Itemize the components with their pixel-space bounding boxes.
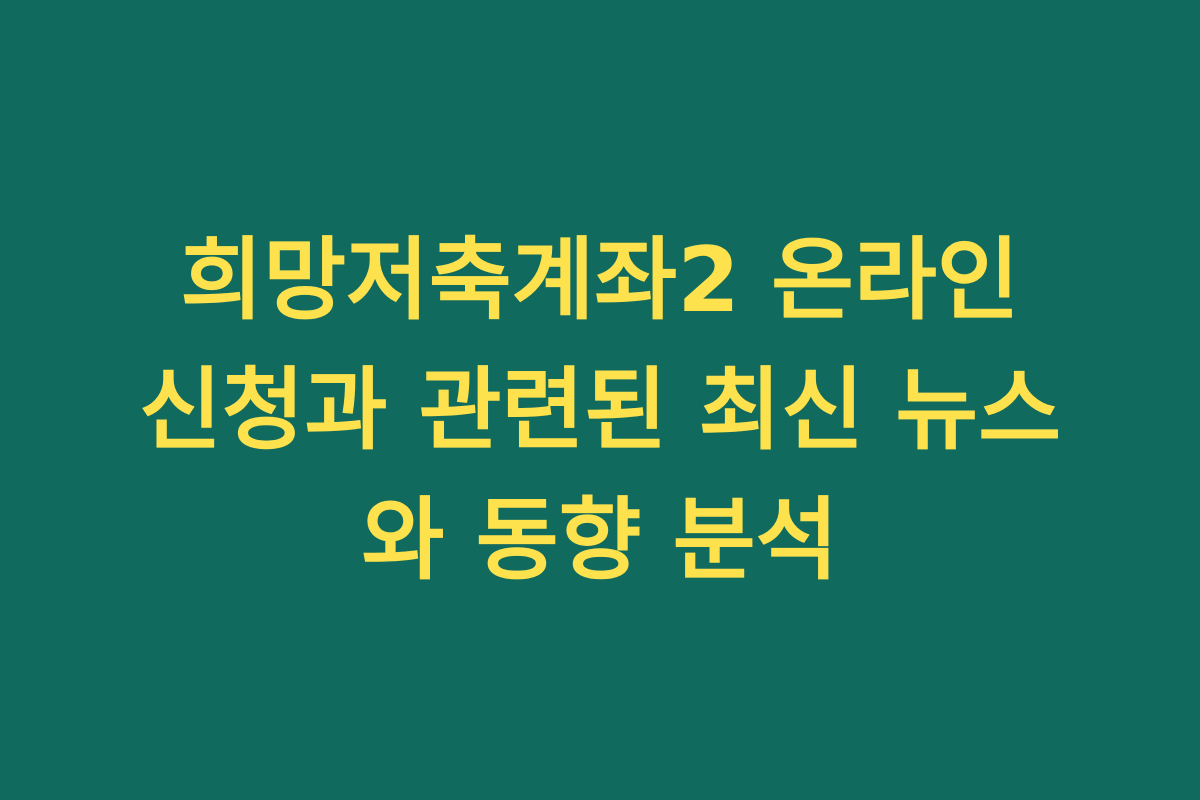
headline-line-2: 신청과 관련된 최신 뉴스 <box>139 346 1061 476</box>
banner-card: 희망저축계좌2 온라인 신청과 관련된 최신 뉴스 와 동향 분석 <box>0 0 1200 800</box>
headline-line-3: 와 동향 분석 <box>362 476 839 606</box>
headline-block: 희망저축계좌2 온라인 신청과 관련된 최신 뉴스 와 동향 분석 <box>40 194 1160 606</box>
headline-line-1: 희망저축계좌2 온라인 <box>180 216 1019 346</box>
